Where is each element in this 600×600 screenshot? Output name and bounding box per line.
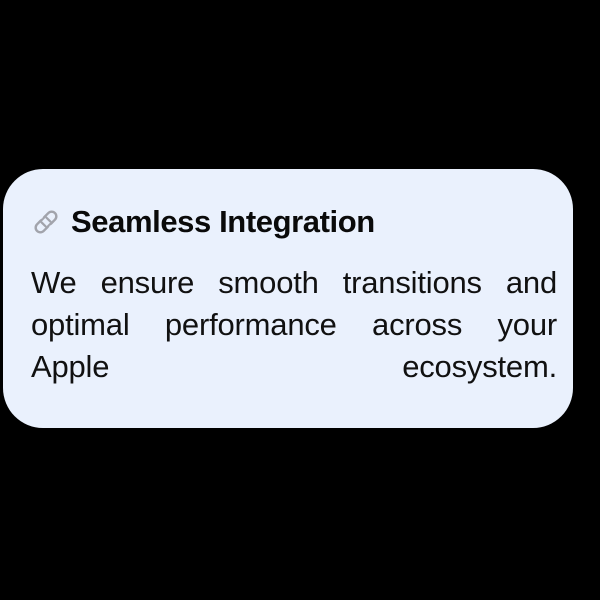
link-icon: [31, 207, 61, 237]
card-title: Seamless Integration: [71, 206, 375, 237]
feature-card: Seamless Integration We ensure smooth tr…: [3, 169, 573, 428]
page-background: Seamless Integration We ensure smooth tr…: [0, 0, 600, 600]
card-title-row: Seamless Integration: [31, 201, 557, 241]
card-content: Seamless Integration We ensure smooth tr…: [31, 201, 557, 428]
card-description: We ensure smooth transitions and optimal…: [31, 262, 557, 428]
